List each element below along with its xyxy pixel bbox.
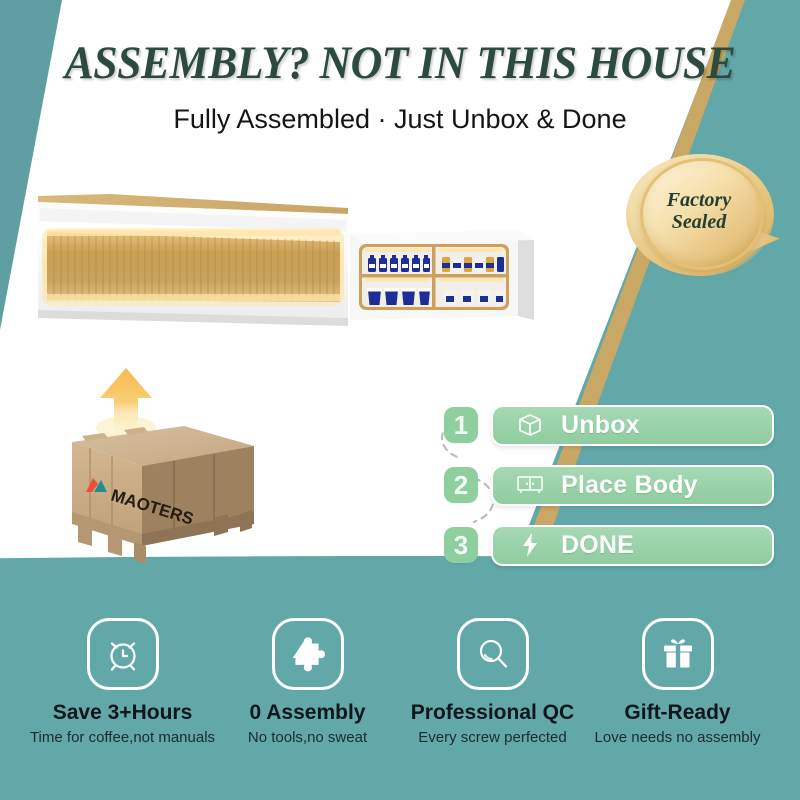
step-number-2: 2 (444, 467, 478, 503)
magnifier-icon (457, 618, 529, 690)
feature-professional-qc: Professional QC Every screw perfected (400, 618, 585, 746)
step-label-1: Unbox (561, 411, 640, 440)
badge-line-1: Factory (667, 189, 731, 211)
factory-sealed-badge: Factory Sealed (622, 150, 778, 280)
step-label-2: Place Body (561, 471, 698, 500)
shipping-crate-group: MAOTERS (64, 360, 294, 565)
feature-subtitle: No tools,no sweat (248, 729, 367, 746)
badge-text: Factory Sealed (640, 158, 758, 264)
feature-zero-assembly: 0 Assembly No tools,no sweat (215, 618, 400, 746)
promo-poster: ASSEMBLY? NOT IN THIS HOUSE Fully Assemb… (0, 0, 800, 800)
feature-title: 0 Assembly (250, 701, 366, 725)
step-item-2[interactable]: 2 Place Body (444, 464, 774, 506)
step-item-1[interactable]: 1 Unbox (444, 404, 774, 446)
step-item-3[interactable]: 3 DONE (444, 524, 774, 566)
feature-subtitle: Every screw perfected (418, 729, 566, 746)
wood-slat-panel (47, 230, 340, 302)
cabinet-icon (515, 472, 545, 498)
feature-gift-ready: Gift-Ready Love needs no assembly (585, 618, 770, 746)
gift-box-icon (642, 618, 714, 690)
feature-subtitle: Love needs no assembly (595, 729, 761, 746)
assembly-steps: 1 Unbox 2 (444, 404, 774, 570)
led-reception-desk (18, 168, 538, 350)
lightning-bolt-icon (515, 532, 545, 558)
puzzle-piece-icon (272, 618, 344, 690)
step-number-1: 1 (444, 407, 478, 443)
alarm-clock-icon (87, 618, 159, 690)
feature-title: Professional QC (411, 701, 574, 725)
glowing-up-arrow (96, 368, 156, 440)
step-pill-1[interactable]: Unbox (491, 405, 774, 446)
feature-subtitle: Time for coffee,not manuals (30, 729, 215, 746)
feature-row: Save 3+Hours Time for coffee,not manuals… (0, 618, 800, 758)
subheadline: Fully Assembled · Just Unbox & Done (0, 104, 800, 135)
headline: ASSEMBLY? NOT IN THIS HOUSE (28, 36, 772, 90)
feature-title: Save 3+Hours (53, 701, 193, 725)
box-icon (515, 412, 545, 438)
step-pill-2[interactable]: Place Body (491, 465, 774, 506)
step-pill-3[interactable]: DONE (491, 525, 774, 566)
badge-line-2: Sealed (672, 211, 726, 233)
step-number-3: 3 (444, 527, 478, 563)
feature-save-hours: Save 3+Hours Time for coffee,not manuals (30, 618, 215, 746)
wooden-shipping-crate: MAOTERS (72, 426, 254, 564)
display-shelf-unit (350, 230, 534, 320)
step-label-3: DONE (561, 531, 634, 560)
feature-title: Gift-Ready (624, 701, 730, 725)
